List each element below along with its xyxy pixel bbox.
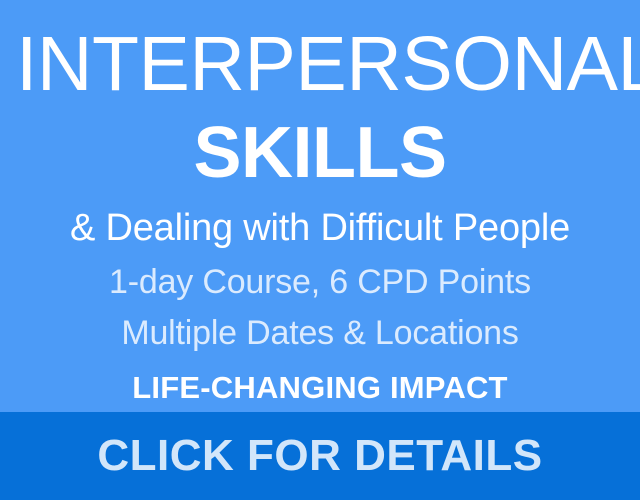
advertisement-banner[interactable]: INTERPERSONAL SKILLS & Dealing with Diff… [0,0,640,500]
banner-content: INTERPERSONAL SKILLS & Dealing with Diff… [0,0,640,412]
headline-primary-line-1: INTERPERSONAL [16,26,624,103]
impact-statement: LIFE-CHANGING IMPACT [16,372,624,403]
headline-primary-line-2: SKILLS [16,117,624,189]
cta-button-label: CLICK FOR DETAILS [97,434,542,478]
course-detail-duration-cpd: 1-day Course, 6 CPD Points [16,265,624,299]
cta-button[interactable]: CLICK FOR DETAILS [0,412,640,500]
headline-subtitle: & Dealing with Difficult People [16,209,624,247]
course-detail-dates-locations: Multiple Dates & Locations [16,316,624,350]
